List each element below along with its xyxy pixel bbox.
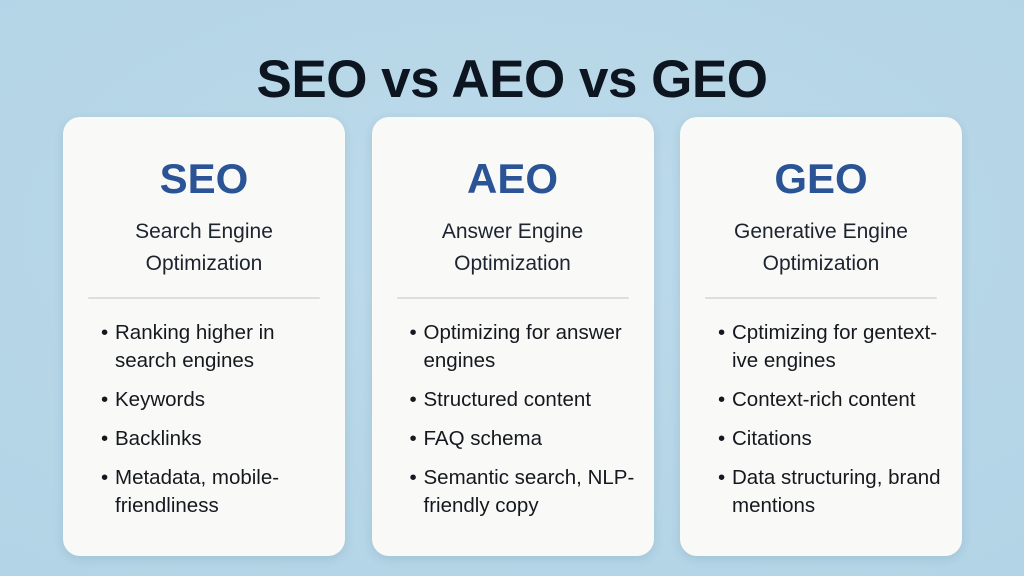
card-fullname-seo: Search Engine Optimization — [63, 216, 345, 280]
list-item: •Semantic search, NLP-friendly copy — [410, 464, 640, 520]
card-bullet-list-geo: •Cptimizing for gentext-ive engines •Con… — [680, 299, 962, 520]
list-item-label: Ranking higher in search engines — [115, 321, 275, 372]
bullet-icon: • — [101, 386, 108, 414]
bullet-icon: • — [718, 425, 725, 453]
list-item-label: Structured content — [424, 388, 592, 411]
list-item-label: Cptimizing for gentext-ive engines — [732, 321, 937, 372]
list-item-label: Context-rich content — [732, 388, 915, 411]
card-seo: SEO Search Engine Optimization •Ranking … — [63, 117, 345, 556]
list-item-label: Optimizing for answer engines — [424, 321, 622, 372]
bullet-icon: • — [718, 319, 725, 347]
page-title: SEO vs AEO vs GEO — [0, 48, 1024, 112]
bullet-icon: • — [410, 425, 417, 453]
list-item: •Ranking higher in search engines — [101, 319, 331, 375]
card-abbr-seo: SEO — [63, 155, 345, 203]
bullet-icon: • — [718, 464, 725, 492]
list-item: •FAQ schema — [410, 425, 640, 453]
comparison-card-row: SEO Search Engine Optimization •Ranking … — [63, 117, 962, 556]
infographic-canvas: SEO vs AEO vs GEO SEO Search Engine Opti… — [0, 0, 1024, 576]
list-item-label: FAQ schema — [424, 427, 543, 450]
list-item: •Structured content — [410, 386, 640, 414]
list-item-label: Data structuring, brand mentions — [732, 466, 941, 517]
bullet-icon: • — [410, 464, 417, 492]
list-item: •Keywords — [101, 386, 331, 414]
card-abbr-aeo: AEO — [372, 155, 654, 203]
list-item-label: Metadata, mobile-friendliness — [115, 466, 279, 517]
list-item: •Citations — [718, 425, 948, 453]
bullet-icon: • — [101, 319, 108, 347]
list-item: •Optimizing for answer engines — [410, 319, 640, 375]
list-item: •Metadata, mobile-friendliness — [101, 464, 331, 520]
list-item-label: Keywords — [115, 388, 205, 411]
card-fullname-geo: Generative Engine Optimization — [680, 216, 962, 280]
list-item: •Context-rich content — [718, 386, 948, 414]
card-bullet-list-aeo: •Optimizing for answer engines •Structur… — [372, 299, 654, 520]
list-item: •Cptimizing for gentext-ive engines — [718, 319, 948, 375]
card-fullname-aeo: Answer Engine Optimization — [372, 216, 654, 280]
bullet-icon: • — [101, 464, 108, 492]
bullet-icon: • — [410, 386, 417, 414]
bullet-icon: • — [410, 319, 417, 347]
list-item: •Data structuring, brand mentions — [718, 464, 948, 520]
list-item: •Backlinks — [101, 425, 331, 453]
card-abbr-geo: GEO — [680, 155, 962, 203]
card-aeo: AEO Answer Engine Optimization •Optimizi… — [372, 117, 654, 556]
card-bullet-list-seo: •Ranking higher in search engines •Keywo… — [63, 299, 345, 520]
card-geo: GEO Generative Engine Optimization •Cpti… — [680, 117, 962, 556]
list-item-label: Backlinks — [115, 427, 202, 450]
bullet-icon: • — [718, 386, 725, 414]
list-item-label: Citations — [732, 427, 812, 450]
bullet-icon: • — [101, 425, 108, 453]
list-item-label: Semantic search, NLP-friendly copy — [424, 466, 635, 517]
